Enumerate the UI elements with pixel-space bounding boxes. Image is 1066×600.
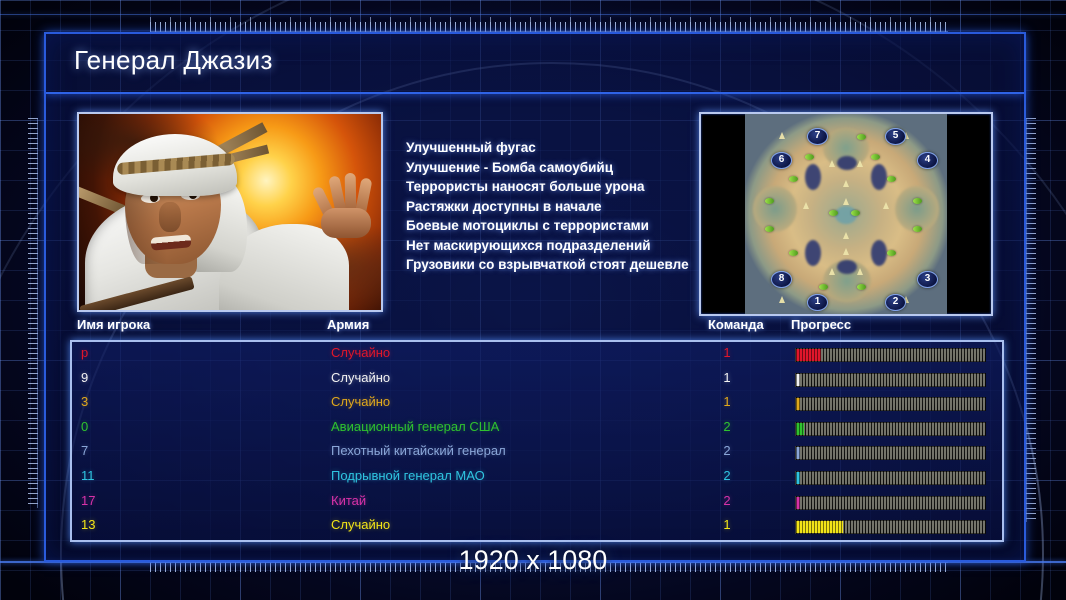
map-tree	[803, 202, 809, 209]
map-resource	[765, 226, 774, 232]
resolution-overlay: 1920 x 1080	[0, 545, 1066, 576]
player-team[interactable]: 2	[717, 419, 737, 434]
window-titlebar: Генерал Джазиз	[46, 34, 1024, 94]
table-row[interactable]: 17Китай2	[72, 490, 1002, 515]
map-start-position-2: 2	[885, 294, 906, 311]
description-line: Растяжки доступны в начале	[406, 197, 736, 217]
player-name: 9	[81, 370, 88, 385]
general-info-window: Генерал Джазиз	[44, 32, 1026, 562]
map-start-position-8: 8	[771, 271, 792, 288]
column-header-progress: Прогресс	[791, 317, 851, 332]
player-name: р	[81, 345, 88, 360]
map-start-position-1: 1	[807, 294, 828, 311]
minimap-image: 7 6 5 4 8 1 3 2	[745, 114, 947, 314]
map-tree	[883, 202, 889, 209]
map-tree	[829, 268, 835, 275]
map-rock	[871, 164, 887, 190]
portrait-finger	[345, 173, 357, 211]
player-name: 11	[81, 468, 95, 483]
map-resource	[829, 210, 838, 216]
map-rock	[837, 260, 857, 274]
table-row[interactable]: рСлучайно1	[72, 342, 1002, 367]
player-army[interactable]: Авиационный генерал США	[331, 419, 499, 434]
map-rock	[805, 164, 821, 190]
map-rock	[837, 156, 857, 170]
progress-bar	[795, 348, 986, 362]
map-tree	[843, 232, 849, 239]
table-row[interactable]: 9Случайно1	[72, 367, 1002, 392]
map-start-position-6: 6	[771, 152, 792, 169]
portrait-nose	[159, 202, 181, 232]
map-start-position-3: 3	[917, 271, 938, 288]
column-header-team: Команда	[708, 317, 764, 332]
player-team[interactable]: 2	[717, 443, 737, 458]
map-resource	[857, 284, 866, 290]
map-resource	[887, 176, 896, 182]
player-army[interactable]: Китай	[331, 493, 366, 508]
progress-bar-fill	[796, 374, 800, 386]
game-screen: Генерал Джазиз	[0, 0, 1066, 600]
player-army[interactable]: Пехотный китайский генерал	[331, 443, 506, 458]
map-resource	[805, 154, 814, 160]
map-tree	[843, 248, 849, 255]
player-table[interactable]: рСлучайно19Случайно13Случайно10Авиационн…	[70, 340, 1004, 542]
map-tree	[779, 296, 785, 303]
map-rock	[871, 240, 887, 266]
table-row[interactable]: 7Пехотный китайский генерал2	[72, 440, 1002, 465]
description-line: Нет маскирующихся подразделений	[406, 236, 736, 256]
map-rock	[805, 240, 821, 266]
progress-bar	[795, 520, 986, 534]
description-line: Террористы наносят больше урона	[406, 177, 736, 197]
progress-bar-fill	[796, 423, 804, 435]
progress-bar-fill	[796, 349, 821, 361]
map-resource	[871, 154, 880, 160]
progress-bar	[795, 422, 986, 436]
player-army[interactable]: Случайно	[331, 517, 390, 532]
description-line: Улучшение - Бомба самоубийц	[406, 158, 736, 178]
player-name: 17	[81, 493, 95, 508]
player-name: 13	[81, 517, 95, 532]
map-tree	[779, 132, 785, 139]
map-resource	[913, 226, 922, 232]
map-tree	[843, 198, 849, 205]
ruler-top	[150, 22, 948, 32]
map-preview: 7 6 5 4 8 1 3 2	[699, 112, 993, 316]
progress-bar-fill	[796, 472, 800, 484]
table-row[interactable]: 0Авиационный генерал США2	[72, 416, 1002, 441]
divider-top	[0, 14, 1066, 15]
description-line: Боевые мотоциклы с террористами	[406, 216, 736, 236]
column-header-player-name: Имя игрока	[77, 317, 150, 332]
map-start-position-7: 7	[807, 128, 828, 145]
player-table-header: Имя игрока Армия Команда Прогресс	[46, 317, 1024, 339]
map-resource	[913, 198, 922, 204]
progress-bar	[795, 373, 986, 387]
player-army[interactable]: Подрывной генерал МАО	[331, 468, 485, 483]
map-tree	[857, 268, 863, 275]
progress-bar	[795, 397, 986, 411]
map-resource	[789, 250, 798, 256]
player-team[interactable]: 2	[717, 468, 737, 483]
player-team[interactable]: 1	[717, 345, 737, 360]
player-team[interactable]: 1	[717, 517, 737, 532]
map-resource	[819, 284, 828, 290]
table-row[interactable]: 3Случайно1	[72, 391, 1002, 416]
player-army[interactable]: Случайно	[331, 345, 390, 360]
player-name: 0	[81, 419, 88, 434]
column-header-army: Армия	[327, 317, 369, 332]
ruler-top-minor	[150, 17, 948, 22]
map-start-position-4: 4	[917, 152, 938, 169]
player-army[interactable]: Случайно	[331, 370, 390, 385]
map-tree	[843, 180, 849, 187]
progress-bar	[795, 471, 986, 485]
progress-bar-fill	[796, 398, 800, 410]
map-resource	[887, 250, 896, 256]
description-line: Улучшенный фугас	[406, 138, 736, 158]
portrait-palm	[321, 208, 371, 238]
general-description-list: Улучшенный фугас Улучшение - Бомба самоу…	[406, 138, 736, 275]
player-name: 3	[81, 394, 88, 409]
general-portrait	[77, 112, 383, 312]
map-terrain-blob	[753, 186, 797, 232]
media-row: Улучшенный фугас Улучшение - Бомба самоу…	[46, 94, 1024, 312]
ruler-left	[28, 118, 38, 508]
progress-bar	[795, 446, 986, 460]
player-team[interactable]: 1	[717, 370, 737, 385]
map-resource	[789, 176, 798, 182]
progress-bar-fill	[796, 521, 843, 533]
map-resource	[851, 210, 860, 216]
player-name: 7	[81, 443, 88, 458]
map-resource	[765, 198, 774, 204]
page-title: Генерал Джазиз	[74, 45, 273, 76]
map-tree	[829, 160, 835, 167]
progress-bar	[795, 496, 986, 510]
player-team[interactable]: 1	[717, 394, 737, 409]
map-resource	[857, 134, 866, 140]
player-army[interactable]: Случайно	[331, 394, 390, 409]
portrait-hand	[317, 170, 375, 236]
player-table-rows: рСлучайно19Случайно13Случайно10Авиационн…	[72, 342, 1002, 539]
map-start-position-5: 5	[885, 128, 906, 145]
player-team[interactable]: 2	[717, 493, 737, 508]
description-line: Грузовики со взрывчаткой стоят дешевле	[406, 255, 736, 275]
ruler-right	[1026, 118, 1036, 522]
map-tree	[857, 160, 863, 167]
progress-bar-fill	[796, 497, 800, 509]
table-row[interactable]: 11Подрывной генерал МАО2	[72, 465, 1002, 490]
progress-bar-fill	[796, 447, 800, 459]
table-row[interactable]: 13Случайно1	[72, 514, 1002, 539]
